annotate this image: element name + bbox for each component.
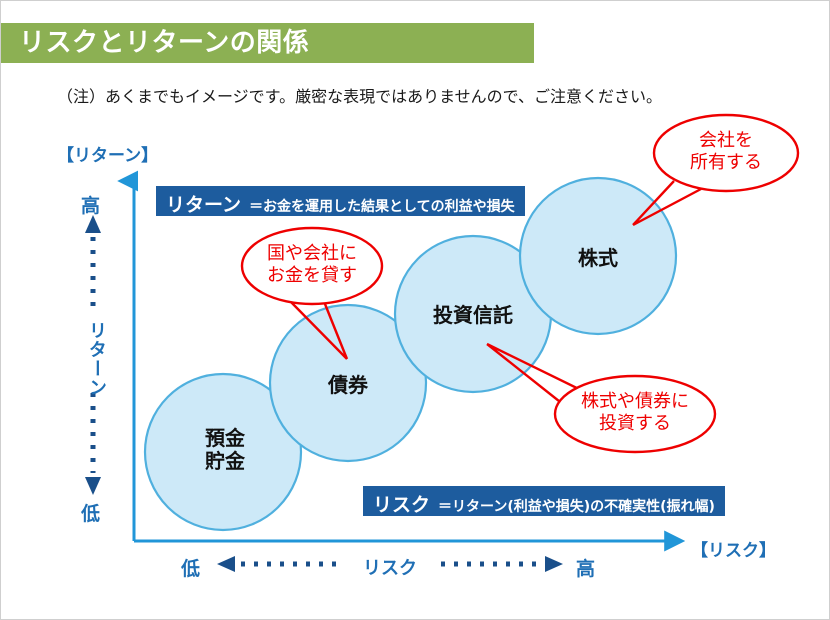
asset-label-deposits: 預金 貯金 bbox=[165, 427, 285, 473]
x-axis-high-label: 高 bbox=[576, 554, 595, 581]
x-axis-caption: 【リスク】 bbox=[691, 536, 776, 561]
slide-canvas: リスクとリターンの関係 （注）あくまでもイメージです。厳密な表現ではありませんの… bbox=[0, 0, 830, 620]
asset-label-bonds: 債券 bbox=[308, 374, 388, 397]
asset-label-investment-trust: 投資信託 bbox=[413, 304, 533, 327]
callout-text-lend-money: 国や会社に お金を貸す bbox=[247, 243, 377, 286]
y-axis-mid-label: リターン bbox=[83, 321, 109, 397]
risk-description: ＝リターン(利益や損失)の不確実性(振れ幅) bbox=[438, 496, 715, 516]
asset-label-stocks: 株式 bbox=[558, 247, 638, 270]
y-axis-low-label: 低 bbox=[81, 499, 100, 526]
callout-text-own-company: 会社を 所有する bbox=[666, 130, 786, 173]
return-term: リターン bbox=[166, 190, 241, 217]
risk-term: リスク bbox=[373, 490, 430, 517]
y-axis-caption: 【リターン】 bbox=[57, 141, 158, 166]
y-axis-high-label: 高 bbox=[81, 191, 100, 218]
risk-definition-banner: リスク ＝リターン(利益や損失)の不確実性(振れ幅) bbox=[363, 486, 725, 516]
x-axis-mid-label: リスク bbox=[363, 554, 417, 580]
callout-text-invest: 株式や債券に 投資する bbox=[560, 391, 710, 434]
return-definition-banner: リターン ＝お金を運用した結果としての利益や損失 bbox=[156, 186, 525, 216]
asset-circles bbox=[145, 178, 676, 530]
return-description: ＝お金を運用した結果としての利益や損失 bbox=[249, 196, 515, 216]
x-axis-low-label: 低 bbox=[181, 554, 200, 581]
